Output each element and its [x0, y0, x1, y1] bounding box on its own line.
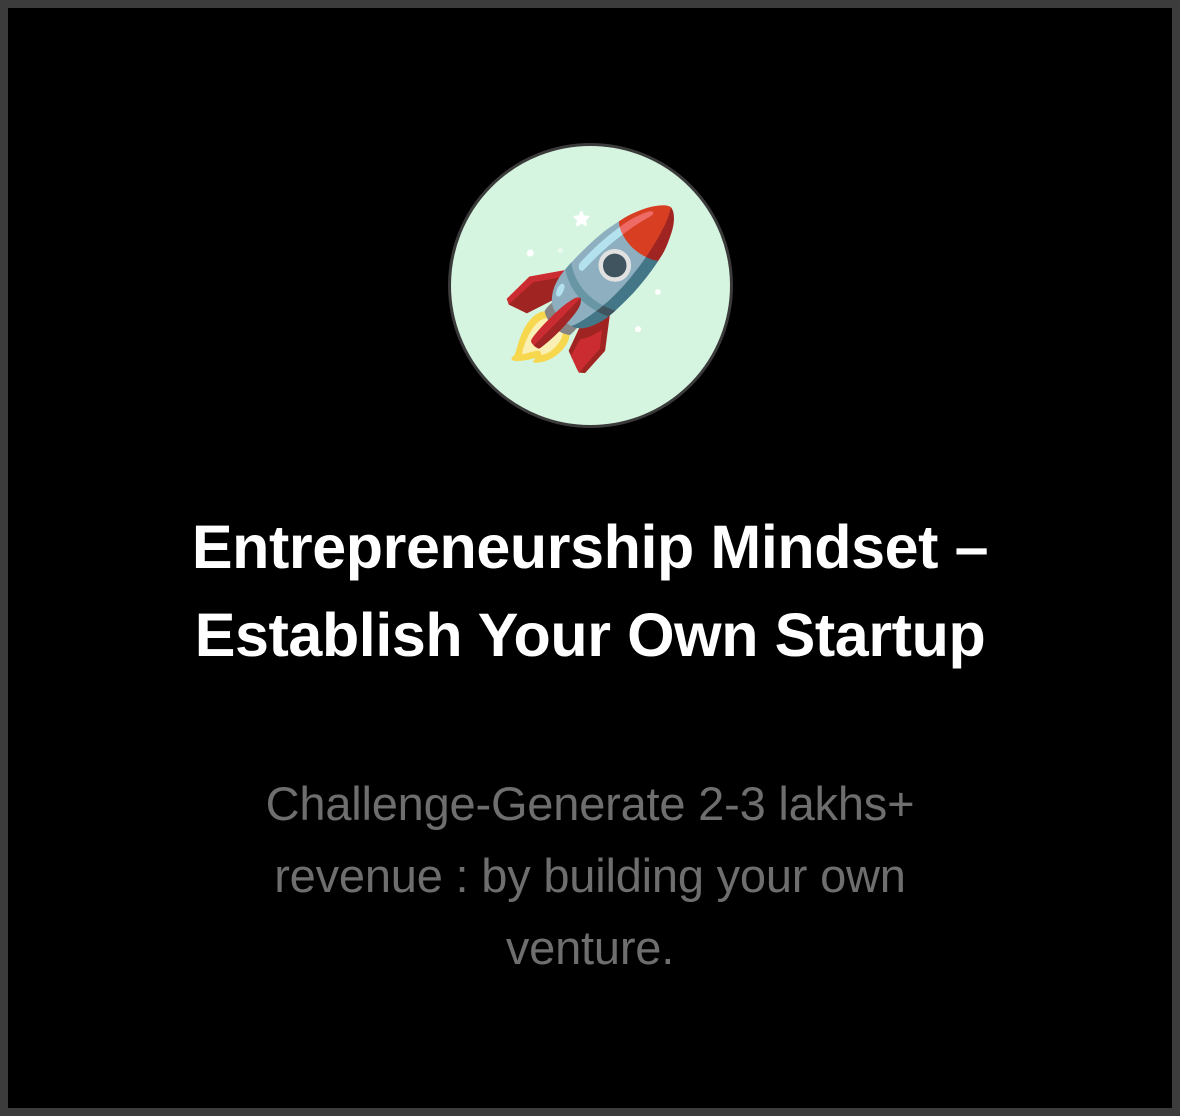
rocket-icon-badge: 🚀: [448, 143, 733, 428]
rocket-icon: 🚀: [496, 212, 685, 364]
card-content: 🚀 Entrepreneurship Mindset – Establish Y…: [8, 8, 1172, 1108]
card-subtitle: Challenge-Generate 2-3 lakhs+ revenue : …: [8, 768, 1172, 984]
card-title: Entrepreneurship Mindset – Establish You…: [8, 503, 1172, 679]
course-card[interactable]: 🚀 Entrepreneurship Mindset – Establish Y…: [0, 0, 1180, 1116]
